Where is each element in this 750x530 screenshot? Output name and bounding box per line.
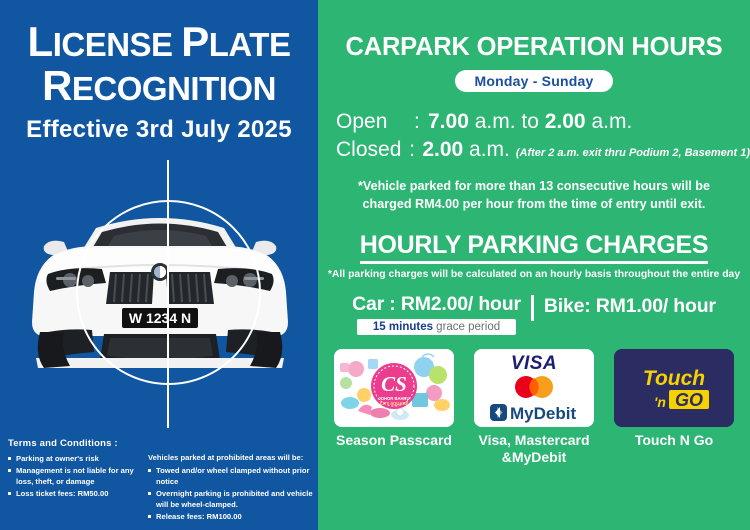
hours-value-open: 7.00 a.m. to 2.00 a.m. xyxy=(428,108,632,136)
cs-sub-citysquare: CITY SQUARE xyxy=(380,401,409,406)
title-line-1: LICENSE PLATE xyxy=(0,20,318,64)
rate-divider xyxy=(531,295,534,321)
terms-right-item: Towed and/or wheel clamped without prior… xyxy=(148,465,314,487)
hours-label-closed: Closed xyxy=(336,136,409,164)
right-green-panel: CARPARK OPERATION HOURS Monday - Sunday … xyxy=(318,0,750,530)
season-passcard-card: CS JOHOR BAHRU CITY SQUARE xyxy=(334,349,454,427)
terms-right-heading: Vehicles parked at prohibited areas will… xyxy=(148,453,314,462)
touch-n-go-logo-icon: Touch 'n GO xyxy=(614,349,734,427)
title-line-2-rest: ECOGNITION xyxy=(72,70,276,107)
payment-method-season-passcard: CS JOHOR BAHRU CITY SQUARE Season Passca… xyxy=(334,349,454,466)
title-line-2: RECOGNITION xyxy=(0,64,318,108)
hours-row-open: Open : 7.00 a.m. to 2.00 a.m. xyxy=(336,108,750,136)
days-badge: Monday - Sunday xyxy=(455,70,614,92)
title-line-2-cap-r: R xyxy=(42,62,72,109)
grace-period-badge: 15 minutes grace period xyxy=(357,319,516,335)
carpark-hours-heading: CARPARK OPERATION HOURS xyxy=(318,33,750,62)
hourly-charges-subnote: *All parking charges will be calculated … xyxy=(318,269,750,280)
closed-time-mid: a.m. xyxy=(463,138,510,161)
terms-left-item: Management is not liable for any loss, t… xyxy=(8,465,142,487)
terms-right-list: Towed and/or wheel clamped without prior… xyxy=(148,465,314,522)
days-badge-wrap: Monday - Sunday xyxy=(318,70,750,92)
visa-mastercard-mydebit-card: VISA MyDebit xyxy=(474,349,594,427)
terms-and-conditions: Terms and Conditions : Parking at owner'… xyxy=(8,438,314,523)
tng-line-go: GO xyxy=(675,390,703,410)
visa-mastercard-mydebit-label: Visa, Mastercard &MyDebit xyxy=(474,432,594,466)
grace-period-duration: 15 minutes xyxy=(373,321,433,333)
terms-columns: Parking at owner's risk Management is no… xyxy=(8,453,314,523)
title-space xyxy=(173,26,182,63)
closed-exit-note: (After 2 a.m. exit thru Podium 2, Baseme… xyxy=(516,146,750,161)
hours-row-closed: Closed : 2.00 a.m. (After 2 a.m. exit th… xyxy=(336,136,750,164)
grace-period-label: grace period xyxy=(433,321,500,333)
open-time-start: 7.00 xyxy=(428,110,469,133)
hours-colon-closed: : xyxy=(409,136,422,164)
title-line-1-cap-p: P xyxy=(181,18,209,65)
mydebit-wordmark: MyDebit xyxy=(510,404,576,423)
open-time-mid: a.m. to xyxy=(469,110,545,133)
visa-mastercard-mydebit-logo-icon: VISA MyDebit xyxy=(474,349,594,427)
payment-method-touch-n-go: Touch 'n GO Touch N Go xyxy=(614,349,734,466)
car-rate-block: Car : RM2.00/ hour 15 minutes grace peri… xyxy=(352,293,521,335)
effective-date: Effective 3rd July 2025 xyxy=(0,116,318,144)
parking-notice-poster: LICENSE PLATE RECOGNITION Effective 3rd … xyxy=(0,0,750,530)
closed-time: 2.00 xyxy=(422,138,463,161)
license-plate-text: W 1234 N xyxy=(129,310,191,326)
terms-title: Terms and Conditions : xyxy=(8,438,314,449)
payment-method-visa-mastercard-mydebit: VISA MyDebit Visa, Mastercard &MyDebit xyxy=(474,349,594,466)
bike-rate-text: Bike: RM1.00/ hour xyxy=(544,295,716,318)
open-time-post: a.m. xyxy=(586,110,633,133)
poster-title-block: LICENSE PLATE RECOGNITION Effective 3rd … xyxy=(0,20,318,144)
charges-heading-wrap: HOURLY PARKING CHARGES xyxy=(318,213,750,264)
terms-column-right: Vehicles parked at prohibited areas will… xyxy=(148,453,314,523)
hours-label-open: Open xyxy=(336,108,414,136)
title-line-1-rest-icense: ICENSE xyxy=(53,26,173,63)
open-time-end: 2.00 xyxy=(545,110,586,133)
touch-n-go-card: Touch 'n GO xyxy=(614,349,734,427)
cs-monogram: CS xyxy=(381,372,407,396)
tng-line-n: 'n xyxy=(654,394,666,410)
payment-methods-row: CS JOHOR BAHRU CITY SQUARE Season Passca… xyxy=(318,349,750,466)
terms-column-left: Parking at owner's risk Management is no… xyxy=(8,453,142,523)
terms-right-item: Release fees: RM100.00 xyxy=(148,511,314,522)
city-square-cs-logo-icon: CS JOHOR BAHRU CITY SQUARE xyxy=(334,349,454,427)
operation-hours-list: Open : 7.00 a.m. to 2.00 a.m. Closed : 2… xyxy=(336,108,750,165)
hours-colon-open: : xyxy=(414,108,428,136)
hourly-charges-heading: HOURLY PARKING CHARGES xyxy=(360,231,709,264)
car-illustration: W 1234 N xyxy=(26,182,294,382)
season-passcard-label: Season Passcard xyxy=(334,432,454,449)
terms-right-item: Overnight parking is prohibited and vehi… xyxy=(148,488,314,510)
car-rate-text: Car : RM2.00/ hour xyxy=(352,293,521,316)
long-stay-charge-note: *Vehicle parked for more than 13 consecu… xyxy=(318,177,750,214)
tng-line-touch: Touch xyxy=(643,367,705,390)
white-car-front-svg: W 1234 N xyxy=(26,182,294,382)
title-line-1-rest-late: LATE xyxy=(209,26,291,63)
left-blue-panel: LICENSE PLATE RECOGNITION Effective 3rd … xyxy=(0,0,318,530)
terms-left-item: Loss ticket fees: RM50.00 xyxy=(8,488,142,499)
hours-value-closed: 2.00 a.m. xyxy=(422,136,510,164)
terms-left-list: Parking at owner's risk Management is no… xyxy=(8,453,142,499)
visa-wordmark: VISA xyxy=(511,353,557,374)
title-line-1-cap-l: L xyxy=(28,18,53,65)
terms-left-item: Parking at owner's risk xyxy=(8,453,142,464)
rates-row: Car : RM2.00/ hour 15 minutes grace peri… xyxy=(318,293,750,335)
touch-n-go-label: Touch N Go xyxy=(614,432,734,449)
